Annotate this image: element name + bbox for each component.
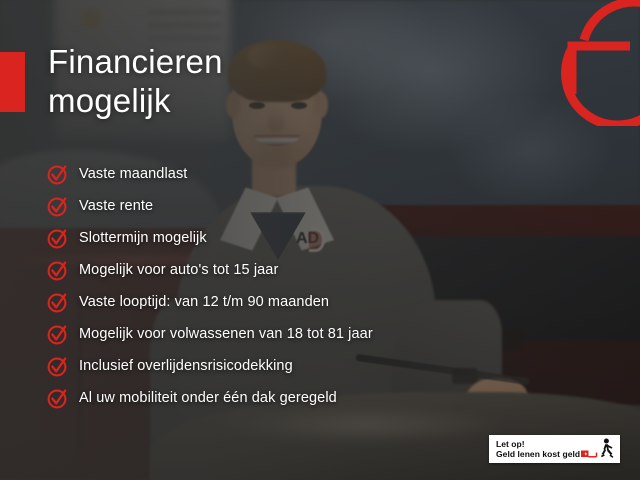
check-circle-icon bbox=[46, 226, 70, 250]
check-circle-icon bbox=[46, 162, 70, 186]
check-circle-icon bbox=[46, 290, 70, 314]
list-item-label: Mogelijk voor auto's tot 15 jaar bbox=[79, 262, 278, 278]
page-title: Financieren mogelijk bbox=[48, 42, 388, 120]
list-item-label: Al uw mobiliteit onder één dak geregeld bbox=[79, 390, 337, 406]
warning-badge-line-1: Let op! bbox=[496, 439, 580, 450]
list-item-label: Vaste rente bbox=[79, 198, 153, 214]
list-item: Vaste rente bbox=[46, 190, 373, 222]
list-item: Mogelijk voor auto's tot 15 jaar bbox=[46, 254, 373, 286]
list-item: Slottermijn mogelijk bbox=[46, 222, 373, 254]
check-circle-icon bbox=[46, 386, 70, 410]
headline-line-1: Financieren bbox=[48, 42, 388, 81]
warning-badge-text: Let op! Geld lenen kost geld bbox=[489, 439, 580, 460]
walking-person-icon bbox=[581, 438, 615, 460]
headline-line-2: mogelijk bbox=[48, 81, 388, 120]
red-bar-shape bbox=[0, 52, 25, 112]
list-item: Al uw mobiliteit onder één dak geregeld bbox=[46, 382, 373, 414]
feature-list: Vaste maandlast Vaste rente Slottermijn … bbox=[46, 158, 373, 414]
list-item-label: Vaste looptijd: van 12 t/m 90 maanden bbox=[79, 294, 329, 310]
check-circle-icon bbox=[46, 258, 70, 282]
list-item-label: Vaste maandlast bbox=[79, 166, 187, 182]
list-item: Vaste maandlast bbox=[46, 158, 373, 190]
rotating-arrow-arc-icon bbox=[542, 0, 640, 126]
check-circle-icon bbox=[46, 354, 70, 378]
list-item-label: Slottermijn mogelijk bbox=[79, 230, 207, 246]
list-item: Vaste looptijd: van 12 t/m 90 maanden bbox=[46, 286, 373, 318]
list-item-label: Mogelijk voor volwassenen van 18 tot 81 … bbox=[79, 326, 373, 342]
list-item: Mogelijk voor volwassenen van 18 tot 81 … bbox=[46, 318, 373, 350]
financing-promo-banner: AD bbox=[0, 0, 640, 480]
status-badge: Let op! Geld lenen kost geld bbox=[489, 435, 620, 463]
list-item-label: Inclusief overlijdensrisicodekking bbox=[79, 358, 293, 374]
list-item: Inclusief overlijdensrisicodekking bbox=[46, 350, 373, 382]
check-circle-icon bbox=[46, 322, 70, 346]
check-circle-icon bbox=[46, 194, 70, 218]
warning-badge-line-2: Geld lenen kost geld bbox=[496, 449, 580, 460]
